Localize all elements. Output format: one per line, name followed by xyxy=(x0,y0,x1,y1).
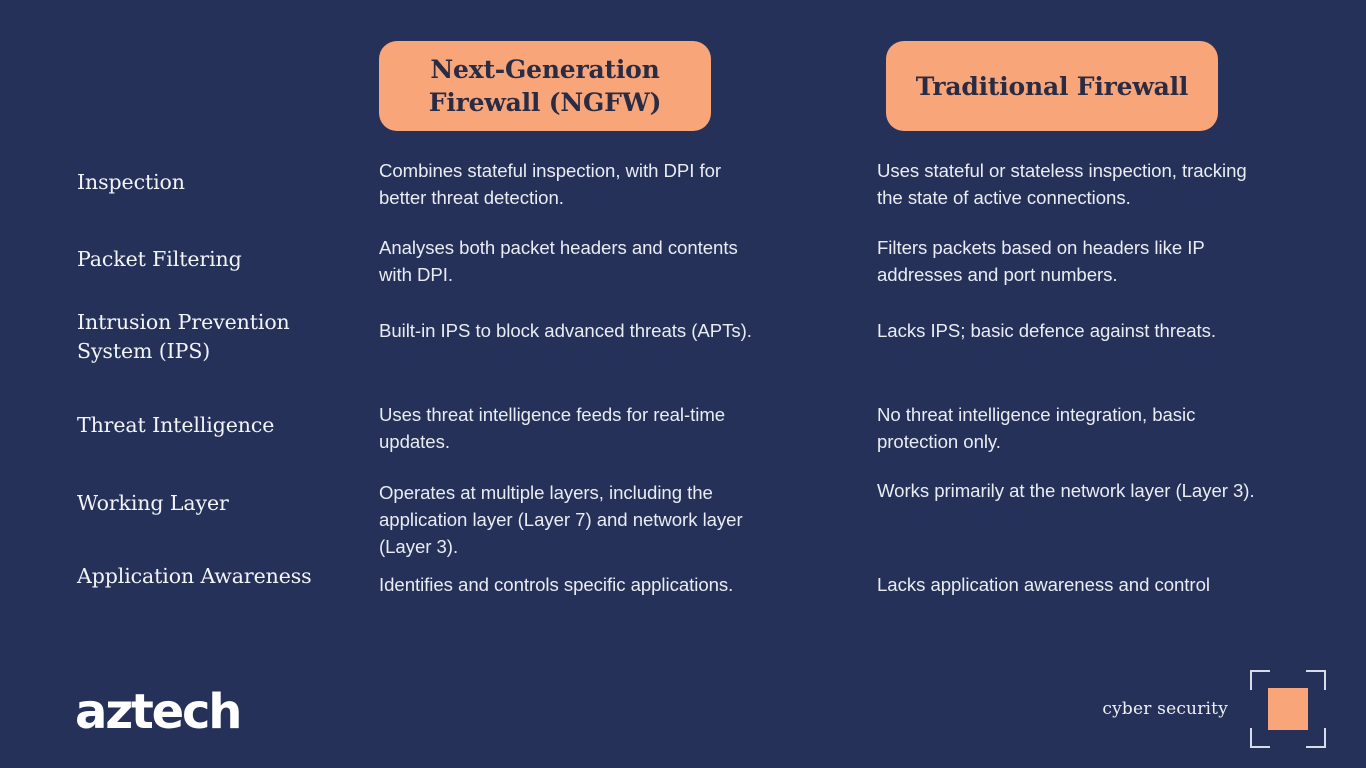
row-traditional-application-awareness: Lacks application awareness and control xyxy=(877,572,1277,599)
row-ngfw-threat-intelligence: Uses threat intelligence feeds for real-… xyxy=(379,402,771,456)
row-ngfw-application-awareness: Identifies and controls specific applica… xyxy=(379,572,771,599)
row-label-working-layer: Working Layer xyxy=(77,489,367,518)
row-ngfw-working-layer: Operates at multiple layers, including t… xyxy=(379,480,771,560)
row-ngfw-packet-filtering: Analyses both packet headers and content… xyxy=(379,235,771,289)
bracket-corner-top-right-icon xyxy=(1306,670,1326,690)
cyber-security-tagline: cyber security xyxy=(1102,699,1228,719)
aztech-logo: aztech xyxy=(75,688,240,736)
row-traditional-intrusion-prevention-system: Lacks IPS; basic defence against threats… xyxy=(877,318,1277,345)
column-header-traditional: Traditional Firewall xyxy=(886,41,1218,131)
row-traditional-threat-intelligence: No threat intelligence integration, basi… xyxy=(877,402,1277,456)
row-traditional-packet-filtering: Filters packets based on headers like IP… xyxy=(877,235,1277,289)
bracket-corner-bottom-left-icon xyxy=(1250,728,1270,748)
row-ngfw-intrusion-prevention-system: Built-in IPS to block advanced threats (… xyxy=(379,318,771,345)
bracket-center-square-icon xyxy=(1268,688,1308,730)
row-traditional-working-layer: Works primarily at the network layer (La… xyxy=(877,478,1277,505)
row-label-inspection: Inspection xyxy=(77,168,367,197)
row-traditional-inspection: Uses stateful or stateless inspection, t… xyxy=(877,158,1277,212)
column-header-ngfw: Next-Generation Firewall (NGFW) xyxy=(379,41,711,131)
bracket-frame-icon xyxy=(1250,670,1326,748)
row-ngfw-inspection: Combines stateful inspection, with DPI f… xyxy=(379,158,771,212)
row-label-application-awareness: Application Awareness xyxy=(77,562,367,591)
footer-brand-mark: cyber security xyxy=(1102,666,1326,752)
row-label-intrusion-prevention-system: Intrusion Prevention System (IPS) xyxy=(77,308,367,366)
row-label-threat-intelligence: Threat Intelligence xyxy=(77,411,367,440)
bracket-corner-top-left-icon xyxy=(1250,670,1270,690)
column-header-traditional-label: Traditional Firewall xyxy=(916,70,1188,103)
row-label-packet-filtering: Packet Filtering xyxy=(77,245,367,274)
column-header-ngfw-label: Next-Generation Firewall (NGFW) xyxy=(393,53,697,119)
bracket-corner-bottom-right-icon xyxy=(1306,728,1326,748)
slide-canvas: Next-Generation Firewall (NGFW) Traditio… xyxy=(0,0,1366,768)
